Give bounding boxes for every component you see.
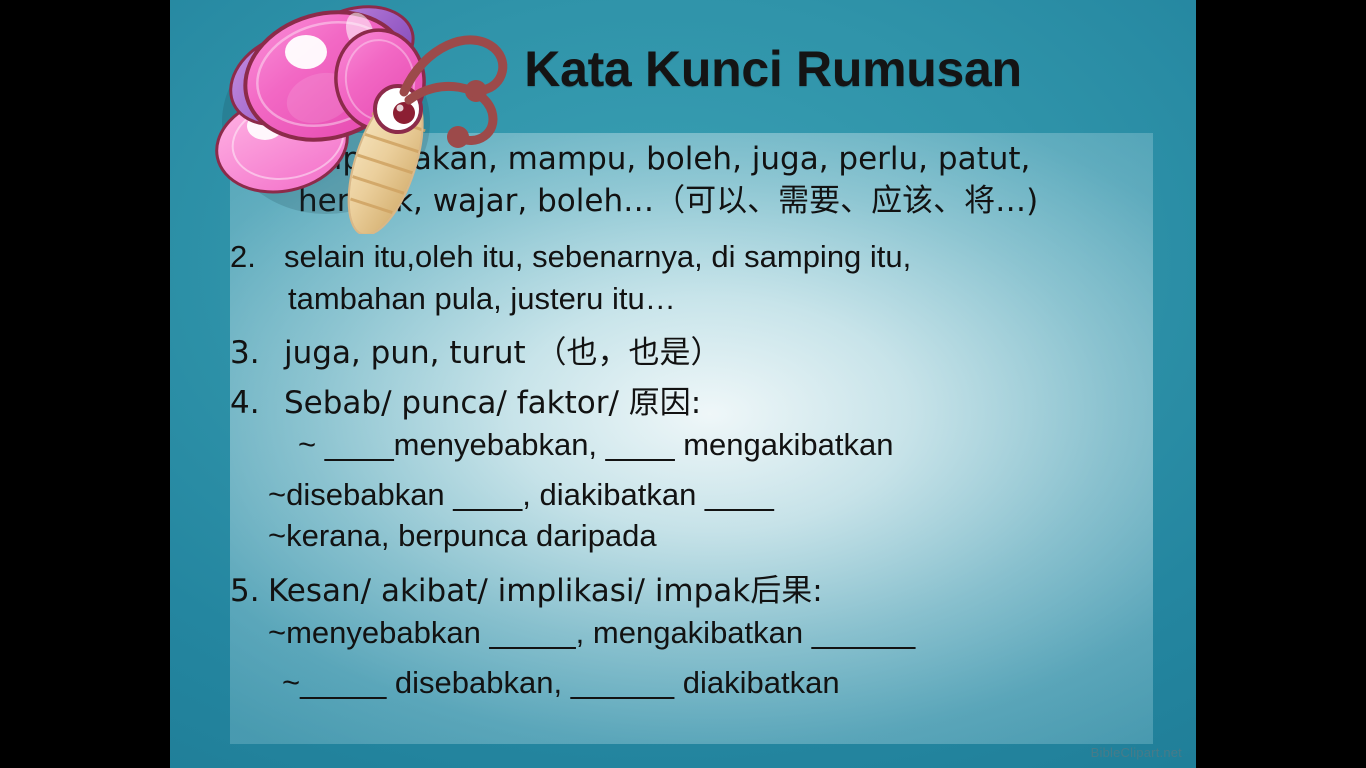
spacer (230, 654, 1153, 662)
list-item-line: ~menyebabkan _____, mengakibatkan ______ (230, 612, 1153, 654)
list-item-line: hendak, wajar, boleh…（可以、需要、应该、将…) (230, 181, 1153, 223)
key-words-list: 1. dapat, akan, mampu, boleh, juga, perl… (230, 133, 1153, 744)
list-item-line: ~disebabkan ____, diakibatkan ____ (230, 474, 1153, 516)
list-item-text: juga, pun, turut （也，也是） (284, 335, 722, 371)
page-title: Kata Kunci Rumusan (170, 40, 1196, 98)
list-item-line: tambahan pula, justeru itu… (230, 278, 1153, 320)
list-marker: 2. (230, 236, 284, 278)
letterbox-left (0, 0, 170, 768)
list-item-line: ~_____ disebabkan, ______ diakibatkan (230, 662, 1153, 704)
list-item: 2.selain itu,oleh itu, sebenarnya, di sa… (230, 236, 1153, 319)
list-item-line: 2.selain itu,oleh itu, sebenarnya, di sa… (230, 236, 1153, 278)
spacer (230, 375, 1153, 383)
list-item-text: selain itu,oleh itu, sebenarnya, di samp… (284, 239, 911, 274)
spacer (230, 557, 1153, 571)
spacer (230, 319, 1153, 333)
list-item-text: Sebab/ punca/ faktor/ 原因: (284, 385, 701, 421)
screenshot-viewport: Kata Kunci Rumusan (0, 0, 1366, 768)
list-marker: 1. (230, 139, 284, 181)
spacer (230, 466, 1153, 474)
list-item-text: Kesan/ akibat/ implikasi/ impak后果: (268, 573, 823, 609)
list-item-line: ~kerana, berpunca daripada (230, 515, 1153, 557)
list-item-line: 3.juga, pun, turut （也，也是） (230, 333, 1153, 375)
spacer (230, 222, 1153, 236)
list-marker: 3. (230, 333, 284, 375)
list-item: 5.Kesan/ akibat/ implikasi/ impak后果: ~me… (230, 571, 1153, 704)
content-panel: 1. dapat, akan, mampu, boleh, juga, perl… (230, 133, 1153, 744)
list-item: 3.juga, pun, turut （也，也是） (230, 333, 1153, 375)
list-item-line: 5.Kesan/ akibat/ implikasi/ impak后果: (230, 571, 1153, 613)
list-item: 4.Sebab/ punca/ faktor/ 原因: ~ ____menyeb… (230, 383, 1153, 557)
letterbox-right (1196, 0, 1366, 768)
presentation-slide: Kata Kunci Rumusan (170, 0, 1196, 768)
list-marker: 5. (230, 571, 268, 613)
list-item-line: 4.Sebab/ punca/ faktor/ 原因: (230, 383, 1153, 425)
watermark-label: BibleClipart.net (1091, 745, 1182, 760)
list-marker: 4. (230, 383, 284, 425)
list-item-line: 1. dapat, akan, mampu, boleh, juga, perl… (230, 139, 1153, 181)
list-item-line: ~ ____menyebabkan, ____ mengakibatkan (230, 424, 1153, 466)
list-item-text: dapat, akan, mampu, boleh, juga, perlu, … (284, 141, 1030, 177)
list-item: 1. dapat, akan, mampu, boleh, juga, perl… (230, 139, 1153, 222)
